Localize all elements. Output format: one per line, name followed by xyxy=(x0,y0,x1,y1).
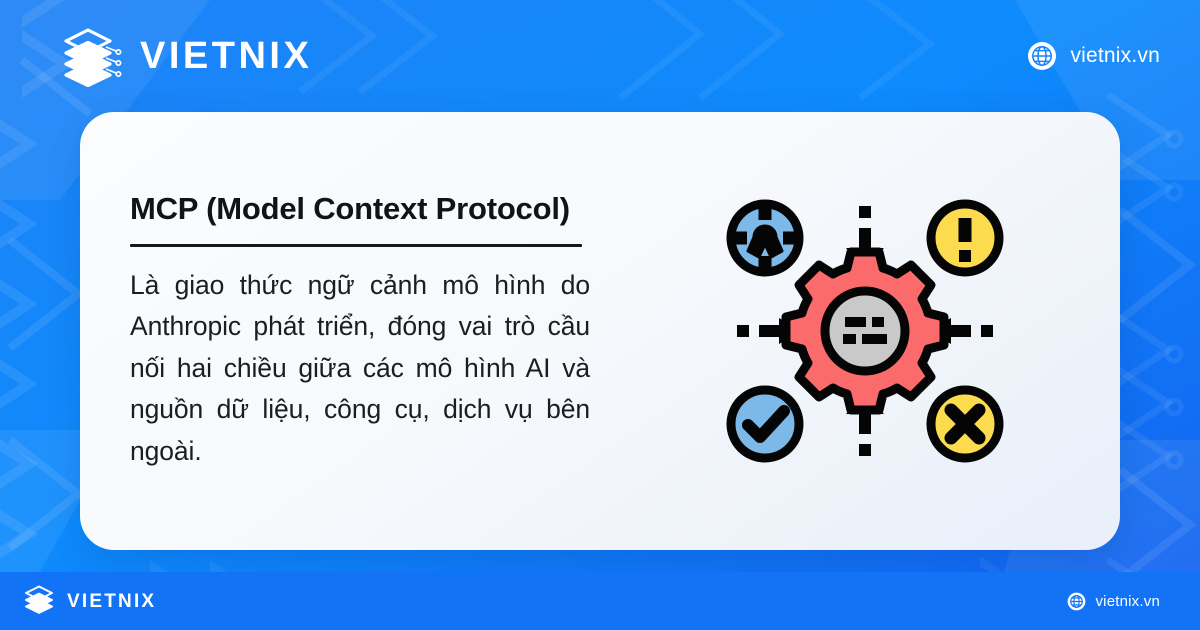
site-link[interactable]: vietnix.vn xyxy=(1027,41,1160,71)
card-text-column: MCP (Model Context Protocol) Là giao thứ… xyxy=(80,190,640,473)
footer-brand-logo[interactable]: VIETNIX xyxy=(22,584,156,618)
stacked-layers-icon xyxy=(22,584,58,618)
mcp-illustration xyxy=(640,186,1120,476)
stacked-layers-icon xyxy=(58,25,124,87)
footer-brand-name: VIETNIX xyxy=(67,592,156,611)
brand-logo[interactable]: VIETNIX xyxy=(58,25,312,87)
globe-icon xyxy=(1027,41,1057,71)
page-title: MCP (Model Context Protocol) xyxy=(130,190,640,227)
exclamation-circle-icon xyxy=(931,204,999,272)
gear-icon xyxy=(786,252,944,410)
banner-canvas: VIETNIX vietnix.vn MCP (Model Context Pr… xyxy=(0,0,1200,630)
globe-icon xyxy=(1067,592,1086,611)
target-connector-icon xyxy=(731,204,799,272)
content-card: MCP (Model Context Protocol) Là giao thứ… xyxy=(80,112,1120,550)
site-url-text: vietnix.vn xyxy=(1070,44,1160,68)
footer-bar: VIETNIX vietnix.vn xyxy=(0,572,1200,630)
footer-site-link[interactable]: vietnix.vn xyxy=(1067,592,1160,611)
brand-name: VIETNIX xyxy=(140,37,312,75)
footer-site-url-text: vietnix.vn xyxy=(1095,593,1160,610)
card-description: Là giao thức ngữ cảnh mô hình do Anthrop… xyxy=(130,265,590,473)
x-circle-icon xyxy=(931,390,999,458)
title-divider xyxy=(130,244,582,247)
header-bar: VIETNIX vietnix.vn xyxy=(0,0,1200,112)
check-circle-icon xyxy=(731,390,799,458)
